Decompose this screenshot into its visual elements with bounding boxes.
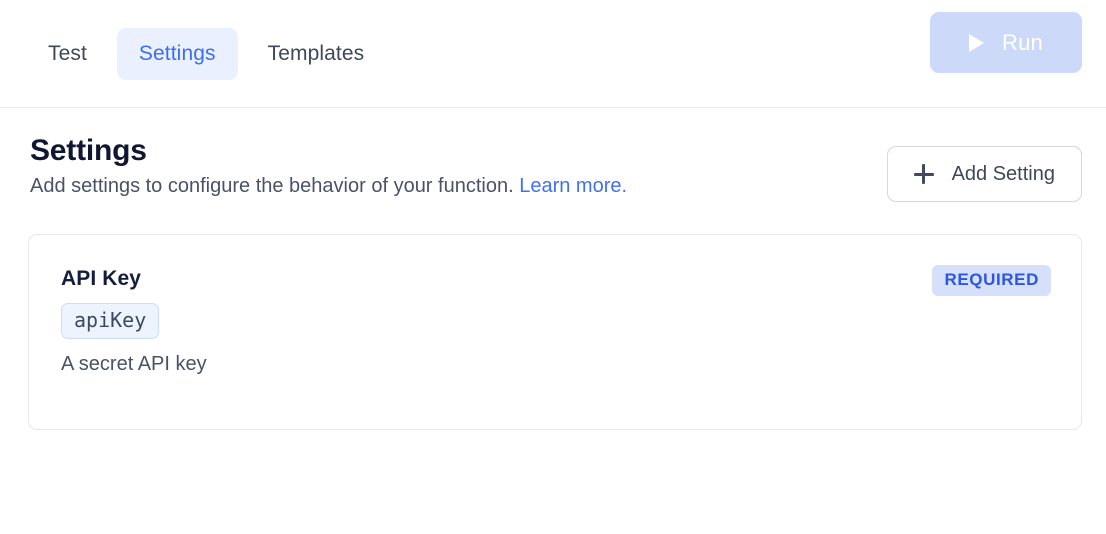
setting-description: A secret API key [61,353,1051,376]
learn-more-link[interactable]: Learn more. [519,175,627,197]
setting-card[interactable]: API Key apiKey A secret API key REQUIRED [28,234,1082,430]
setting-name: API Key [61,267,1051,291]
run-button-label: Run [1002,30,1043,56]
page-description-text: Add settings to configure the behavior o… [30,175,519,197]
plus-icon [914,164,934,184]
play-icon [969,34,984,52]
setting-key-chip: apiKey [61,303,159,339]
status-badge-required: REQUIRED [932,265,1051,296]
add-setting-button[interactable]: Add Setting [887,146,1082,202]
tab-bar: Test Settings Templates Run [0,0,1106,108]
run-button[interactable]: Run [930,12,1082,73]
section-header-text: Settings Add settings to configure the b… [30,134,627,201]
page-title: Settings [30,134,627,168]
add-setting-label: Add Setting [952,163,1055,186]
tab-settings[interactable]: Settings [117,28,238,80]
section-header: Settings Add settings to configure the b… [30,134,1082,202]
tab-test[interactable]: Test [26,28,109,80]
tab-templates[interactable]: Templates [246,28,387,80]
page-description: Add settings to configure the behavior o… [30,172,627,201]
settings-panel: Settings Add settings to configure the b… [0,108,1106,430]
tab-list: Test Settings Templates [26,28,386,80]
